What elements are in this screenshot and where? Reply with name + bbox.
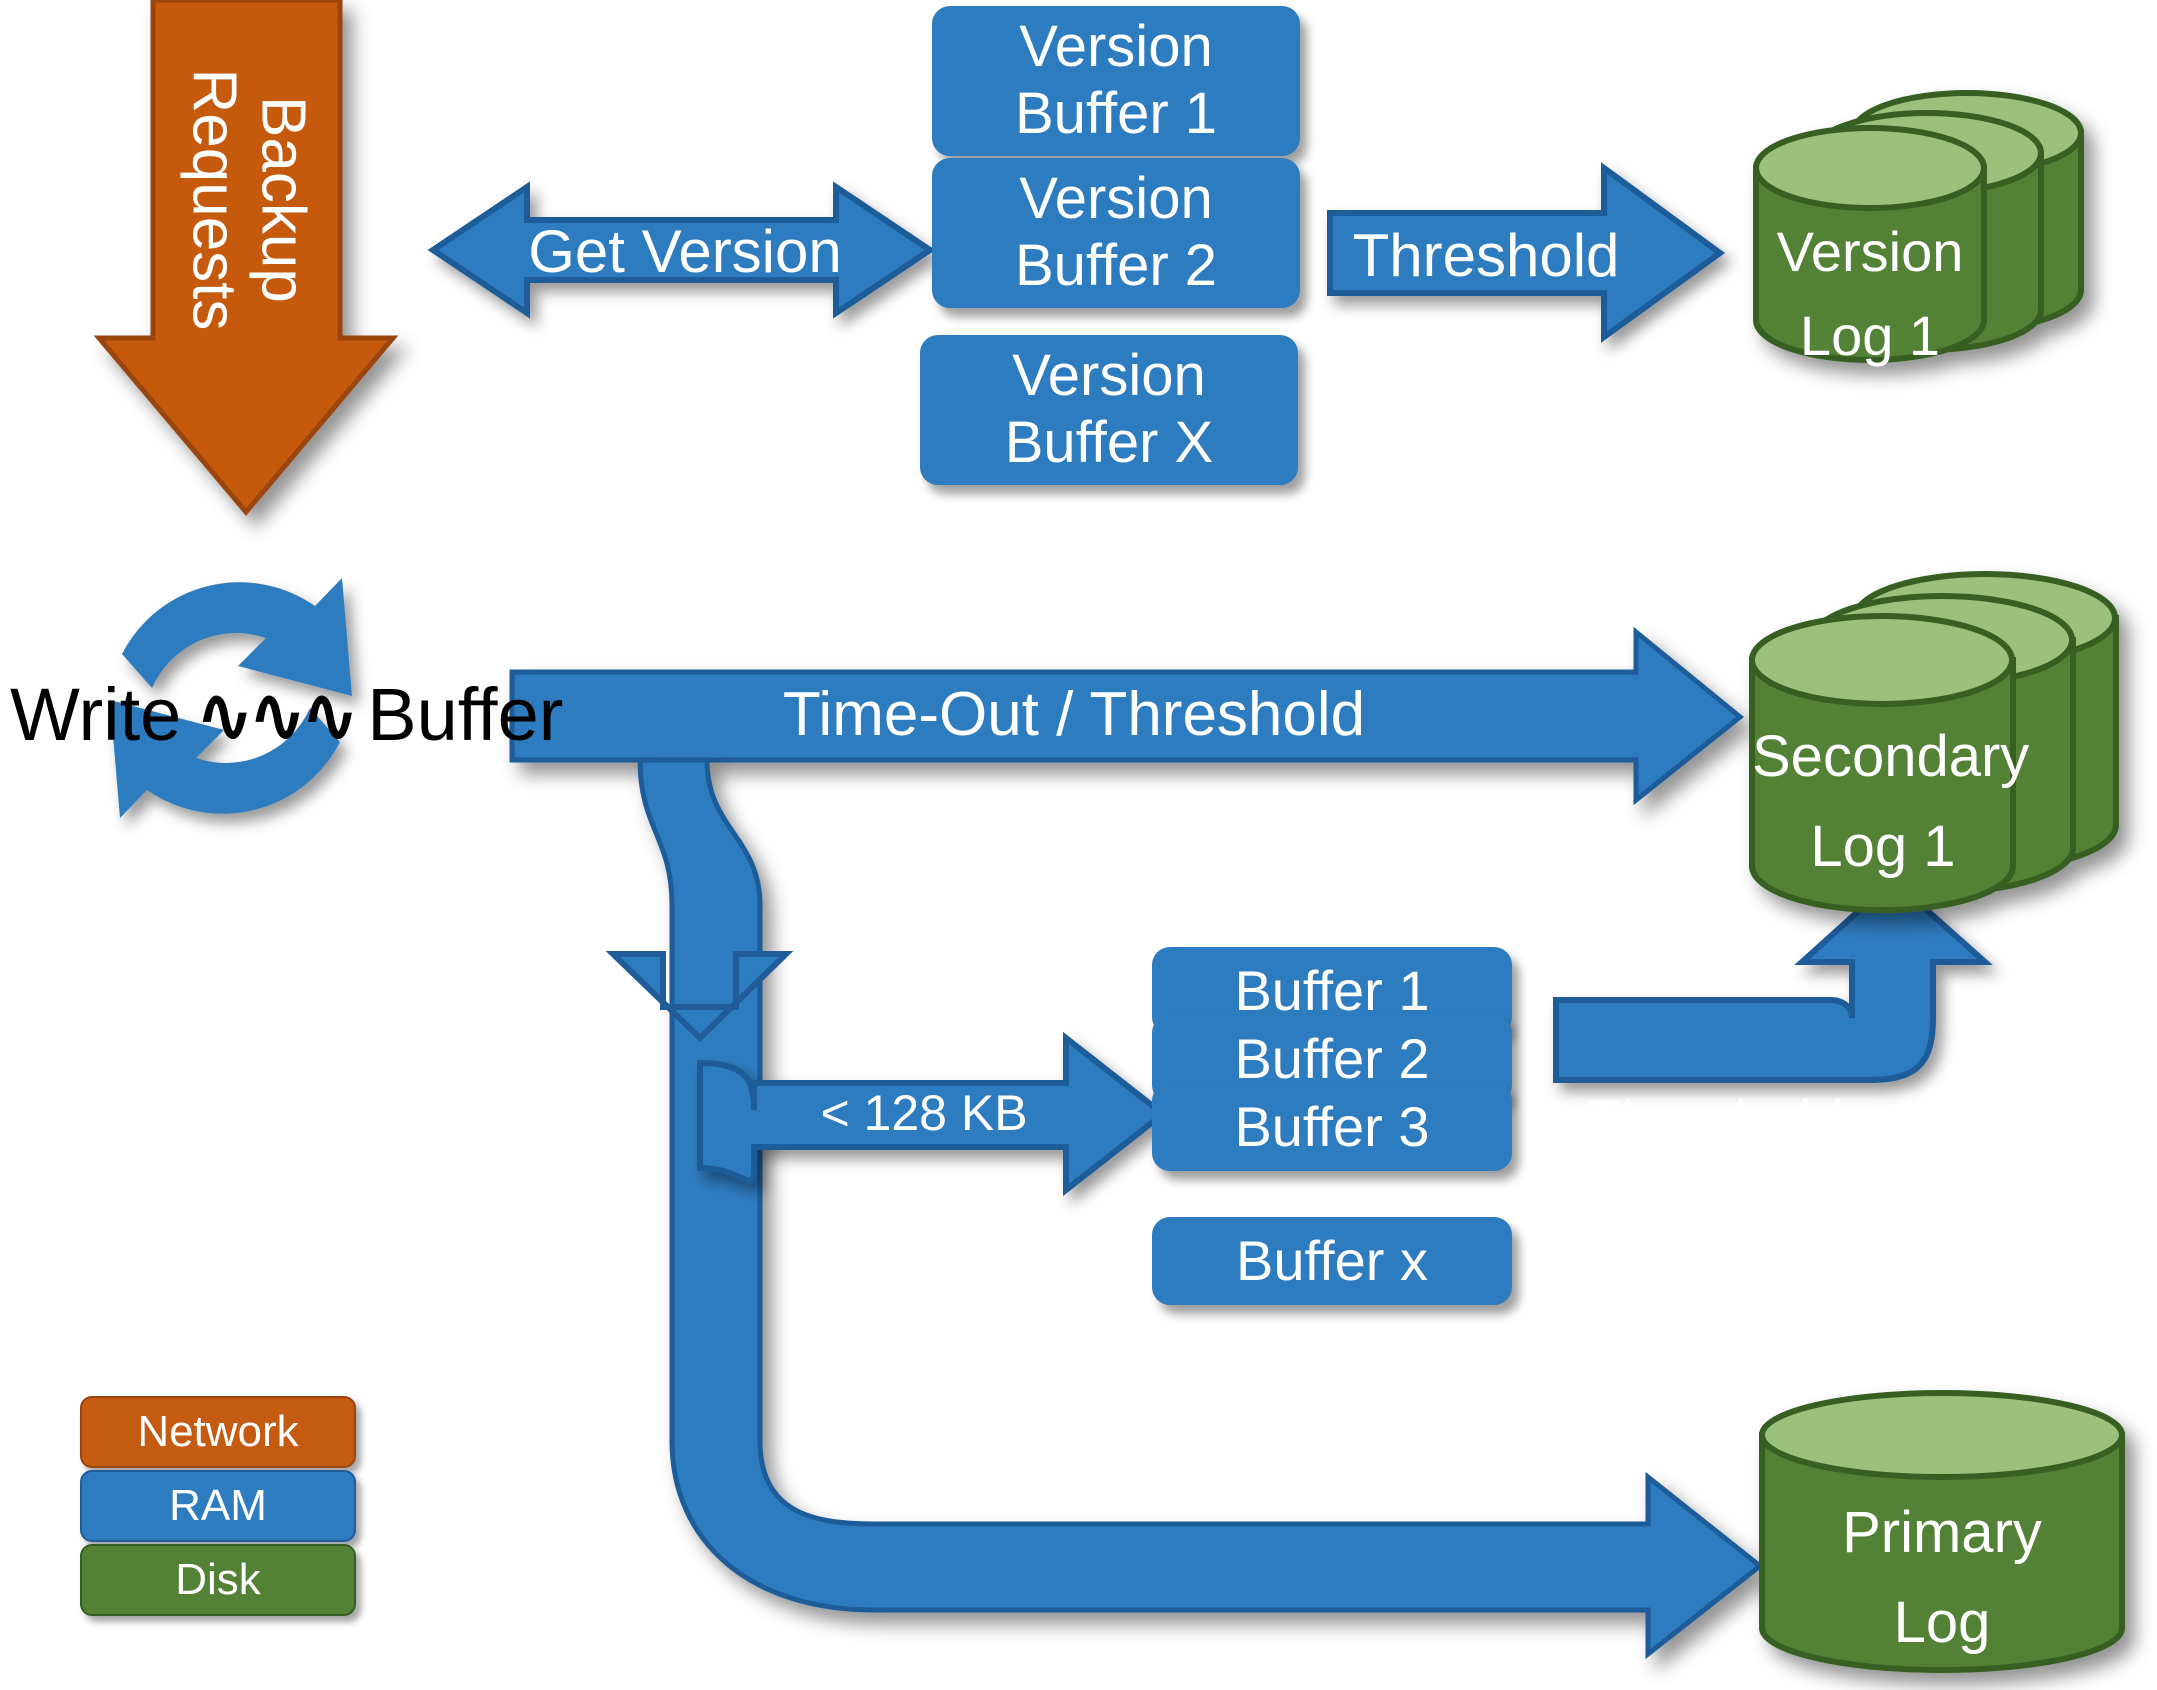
diagram-canvas: Backup Requests Get Version Threshold Wr… (0, 0, 2157, 1690)
write-buffer-word-right: Buffer (367, 672, 563, 757)
size-limit-arrow (700, 1038, 1163, 1190)
version-log-cylinder (1756, 93, 2081, 360)
backup-requests-arrow (99, 0, 393, 512)
legend-item-network: Network (80, 1396, 356, 1468)
legend-item-ram: RAM (80, 1470, 356, 1542)
primary-log-cylinder (1762, 1393, 2122, 1670)
get-version-arrow (433, 187, 930, 313)
version-buffer-2[interactable]: Version Buffer 2 (932, 158, 1300, 308)
secondary-log-cylinder (1752, 574, 2116, 910)
zigzag-icon: ∿∿∿ (195, 667, 353, 761)
legend-item-disk: Disk (80, 1544, 356, 1616)
write-buffer-node: Write ∿∿∿ Buffer (10, 672, 563, 757)
threshold-version-arrow (1330, 168, 1720, 337)
version-buffer-1[interactable]: Version Buffer 1 (932, 6, 1300, 156)
buffer-x[interactable]: Buffer x (1152, 1217, 1512, 1305)
primary-log-trunk-arrow (640, 760, 1760, 1654)
version-buffer-x[interactable]: Version Buffer X (920, 335, 1298, 485)
write-buffer-word-left: Write (10, 672, 181, 757)
buffer-3[interactable]: Buffer 3 (1152, 1083, 1512, 1171)
